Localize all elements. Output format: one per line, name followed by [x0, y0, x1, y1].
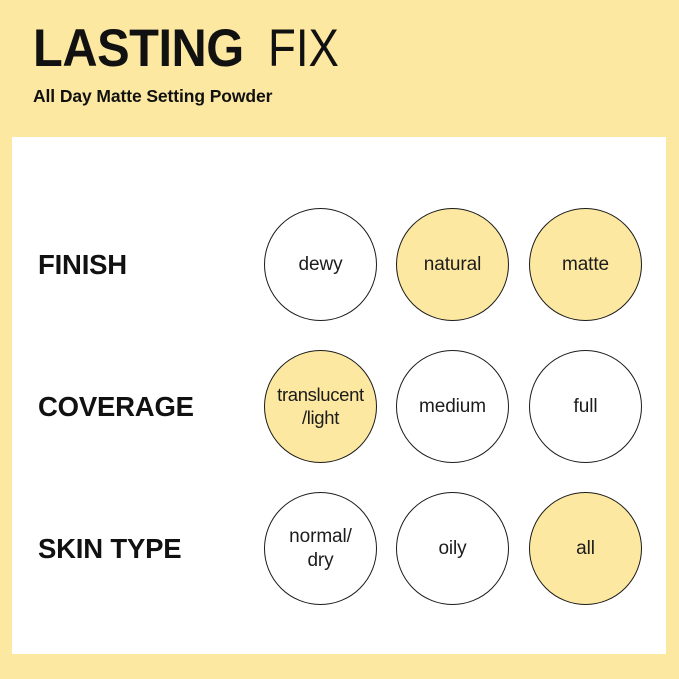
- option-label: oily: [438, 537, 466, 560]
- option-coverage-full[interactable]: full: [529, 350, 642, 463]
- option-skin-type-oily[interactable]: oily: [396, 492, 509, 605]
- attributes-panel: FINISH dewy natural matte COVERAGE trans…: [12, 137, 666, 654]
- option-finish-natural[interactable]: natural: [396, 208, 509, 321]
- option-label: normal/ dry: [289, 525, 352, 571]
- product-title: LASTINGFIX: [33, 22, 351, 75]
- attribute-row-skin-type: SKIN TYPE normal/ dry oily all: [12, 492, 666, 605]
- attribute-row-finish: FINISH dewy natural matte: [12, 208, 666, 321]
- option-label: all: [576, 537, 595, 560]
- option-skin-type-normal-dry[interactable]: normal/ dry: [264, 492, 377, 605]
- header-banner: LASTINGFIX All Day Matte Setting Powder: [0, 0, 679, 136]
- option-group-coverage: translucent /light medium full: [264, 350, 654, 463]
- option-coverage-medium[interactable]: medium: [396, 350, 509, 463]
- attribute-label-skin-type: SKIN TYPE: [38, 492, 181, 605]
- option-label: full: [574, 395, 598, 418]
- product-title-primary: LASTING: [33, 22, 244, 75]
- option-label: translucent /light: [265, 384, 376, 429]
- option-group-skin-type: normal/ dry oily all: [264, 492, 654, 605]
- product-attribute-infographic: LASTINGFIX All Day Matte Setting Powder …: [0, 0, 679, 679]
- attribute-label-coverage: COVERAGE: [38, 350, 194, 463]
- option-finish-dewy[interactable]: dewy: [264, 208, 377, 321]
- option-label: medium: [419, 395, 486, 418]
- attribute-row-coverage: COVERAGE translucent /light medium full: [12, 350, 666, 463]
- attribute-label-finish: FINISH: [38, 208, 127, 321]
- option-finish-matte[interactable]: matte: [529, 208, 642, 321]
- option-skin-type-all[interactable]: all: [529, 492, 642, 605]
- option-group-finish: dewy natural matte: [264, 208, 654, 321]
- option-coverage-translucent-light[interactable]: translucent /light: [264, 350, 377, 463]
- option-label: natural: [424, 253, 481, 276]
- product-subtitle: All Day Matte Setting Powder: [33, 86, 272, 107]
- option-label: matte: [562, 253, 609, 276]
- product-title-secondary: FIX: [268, 22, 339, 75]
- option-label: dewy: [299, 253, 343, 276]
